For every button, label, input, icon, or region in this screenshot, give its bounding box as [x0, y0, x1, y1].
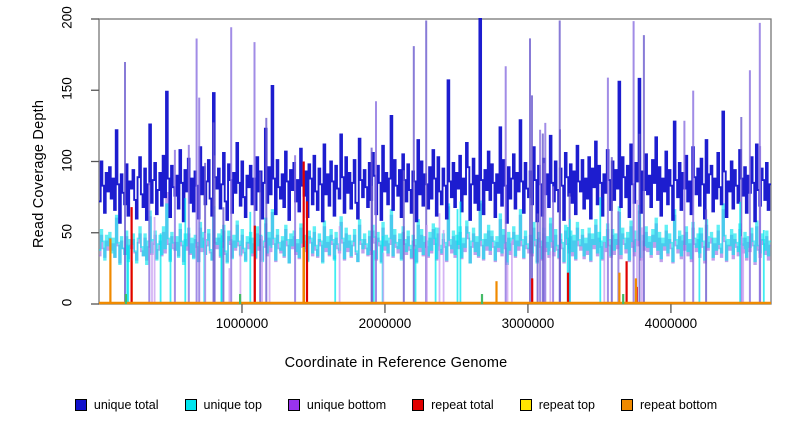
y-tick-label: 200 [60, 0, 75, 40]
coverage-depth-chart: 050100150200 100000020000003000000400000… [0, 0, 792, 432]
x-tick-label: 1000000 [182, 316, 302, 331]
y-tick-label: 0 [60, 281, 75, 325]
legend-item-repeat-total[interactable]: repeat total [412, 398, 494, 412]
y-axis-ticks [91, 19, 99, 304]
legend-swatch-icon [621, 399, 633, 411]
legend-swatch-icon [185, 399, 197, 411]
legend-item-unique-bottom[interactable]: unique bottom [288, 398, 386, 412]
legend-label: repeat total [431, 398, 494, 412]
legend-label: unique top [204, 398, 262, 412]
y-tick-label: 150 [60, 67, 75, 111]
y-axis-title: Read Coverage Depth [31, 100, 47, 248]
legend-item-unique-total[interactable]: unique total [75, 398, 159, 412]
y-tick-label: 50 [60, 209, 75, 253]
legend-label: unique bottom [307, 398, 386, 412]
legend-swatch-icon [288, 399, 300, 411]
legend-label: repeat top [539, 398, 595, 412]
x-axis-title: Coordinate in Reference Genome [0, 355, 792, 371]
y-tick-label: 100 [60, 138, 75, 182]
legend-item-repeat-top[interactable]: repeat top [520, 398, 595, 412]
legend-swatch-icon [75, 399, 87, 411]
x-tick-label: 2000000 [325, 316, 445, 331]
legend-item-repeat-bottom[interactable]: repeat bottom [621, 398, 717, 412]
x-tick-label: 4000000 [611, 316, 731, 331]
legend-swatch-icon [520, 399, 532, 411]
legend-label: unique total [94, 398, 159, 412]
x-tick-label: 3000000 [468, 316, 588, 331]
legend-swatch-icon [412, 399, 424, 411]
chart-legend: unique totalunique topunique bottomrepea… [0, 398, 792, 412]
legend-item-unique-top[interactable]: unique top [185, 398, 262, 412]
legend-label: repeat bottom [640, 398, 717, 412]
x-axis-ticks [242, 304, 671, 313]
